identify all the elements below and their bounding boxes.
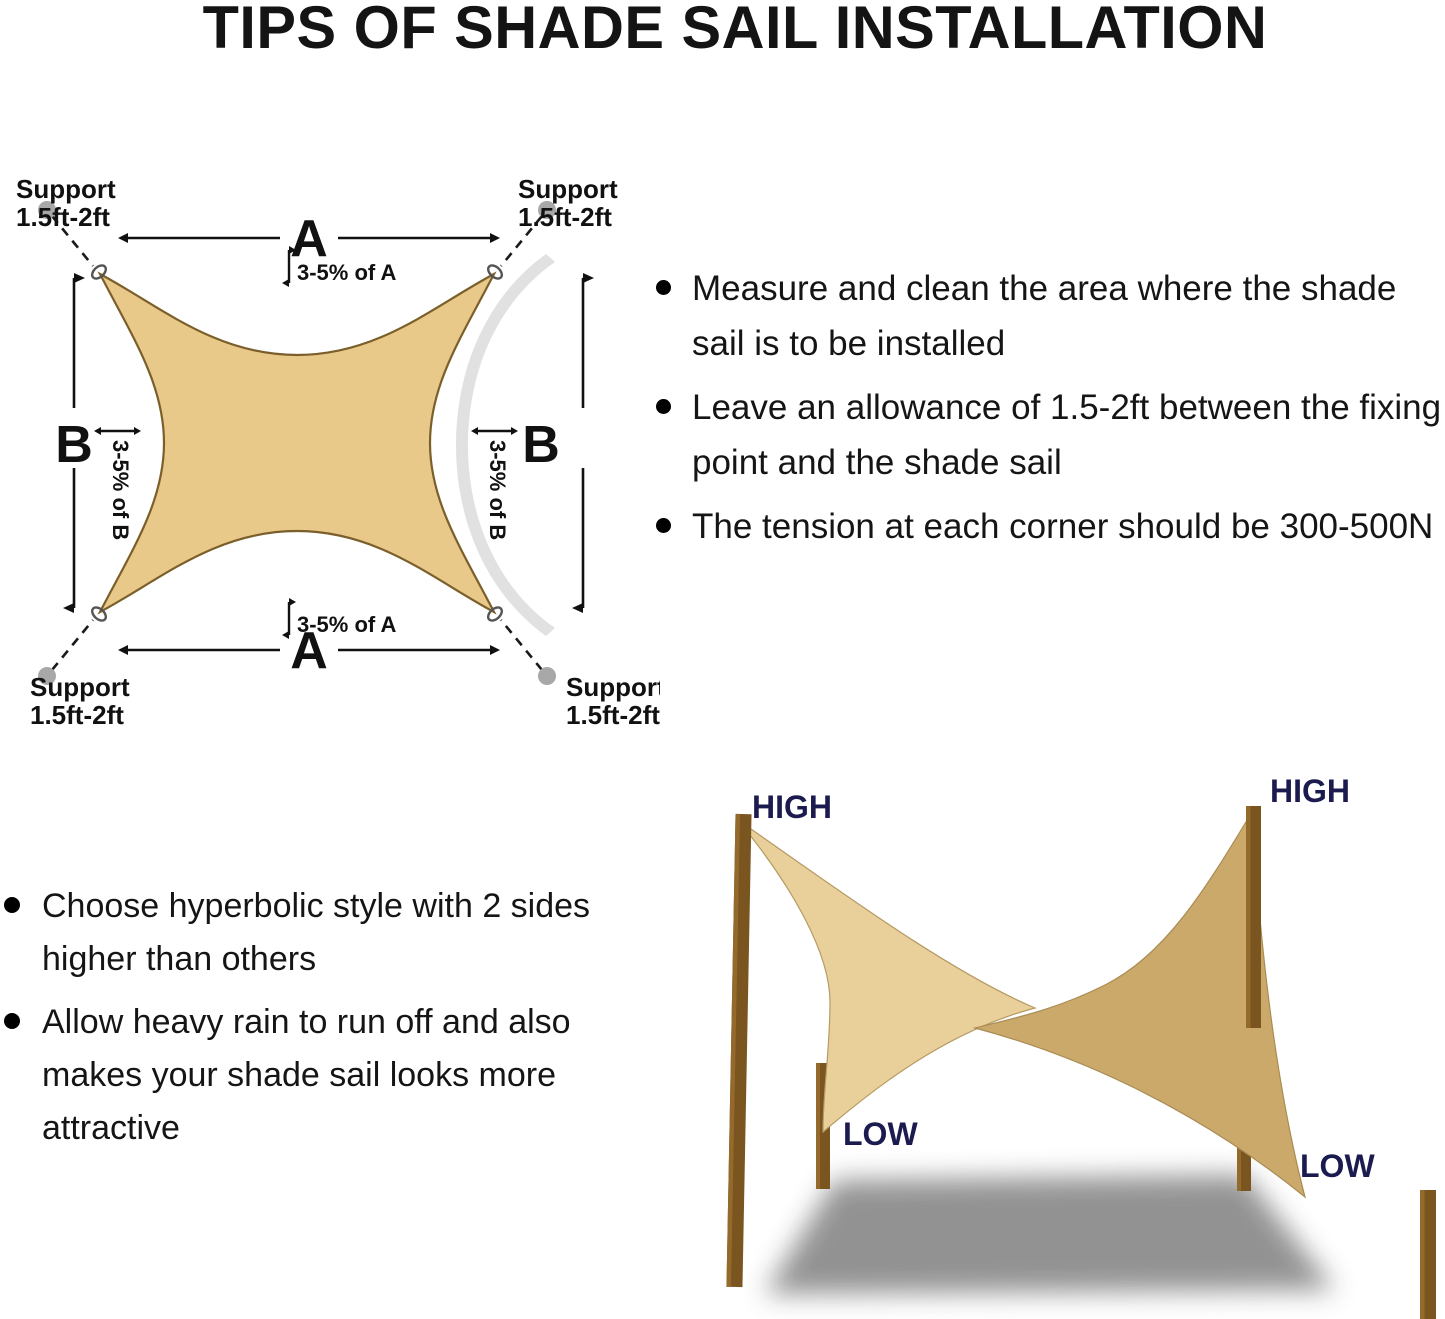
- support-label-br-1: Support: [566, 672, 660, 702]
- tip-text: Measure and clean the area where the sha…: [692, 269, 1396, 363]
- dim-label-b-right: B: [522, 416, 560, 474]
- support-label-tr-1: Support: [518, 174, 618, 204]
- label-low-left: LOW: [843, 1116, 918, 1152]
- support-dot-bottom-right: [538, 667, 556, 685]
- support-label-bl-1: Support: [30, 672, 130, 702]
- tip-text: The tension at each corner should be 300…: [692, 507, 1433, 546]
- bullet-dot-icon: [656, 280, 671, 295]
- style-note-text: Choose hyperbolic style with 2 sides hig…: [42, 887, 590, 978]
- list-item: The tension at each corner should be 300…: [648, 500, 1445, 555]
- dim-label-b-left: B: [55, 416, 93, 474]
- tip-text: Leave an allowance of 1.5-2ft between th…: [692, 388, 1441, 482]
- curve-label-b-left-text: 3-5% of B: [108, 440, 133, 540]
- label-high-left: HIGH: [752, 789, 832, 825]
- curve-label-a-top-text: 3-5% of A: [297, 260, 397, 285]
- curve-label-b-right-text: 3-5% of B: [485, 440, 510, 540]
- hyperbolic-style-notes: Choose hyperbolic style with 2 sides hig…: [0, 880, 640, 1210]
- curve-label-b-left: 3-5% of B: [101, 431, 134, 540]
- bullet-dot-icon: [656, 399, 671, 414]
- shade-sail-dimension-diagram: A 3-5% of A A 3-5% of A B: [0, 150, 660, 740]
- support-label-tl-2: 1.5ft-2ft: [16, 202, 110, 232]
- bullet-dot-icon: [656, 518, 671, 533]
- support-label-br-2: 1.5ft-2ft: [566, 700, 660, 730]
- support-label-tr-2: 1.5ft-2ft: [518, 202, 612, 232]
- curve-label-a-bottom: 3-5% of A: [289, 602, 397, 637]
- support-label-bl-2: 1.5ft-2ft: [30, 700, 124, 730]
- support-label-tl-1: Support: [16, 174, 116, 204]
- page-title: TIPS OF SHADE SAIL INSTALLATION: [106, 0, 1363, 59]
- bullet-dot-icon: [4, 1013, 20, 1029]
- style-bullet-list: Choose hyperbolic style with 2 sides hig…: [0, 880, 640, 1155]
- dimension-b-right: B: [522, 278, 583, 608]
- label-low-right: LOW: [1300, 1148, 1375, 1184]
- list-item: Allow heavy rain to run off and also mak…: [0, 996, 640, 1155]
- ground-shadow: [765, 1175, 1335, 1294]
- hyperbolic-sail-illustration: HIGH HIGH LOW LOW: [645, 770, 1445, 1319]
- hyperbolic-illustration-svg: HIGH HIGH LOW LOW: [645, 770, 1445, 1319]
- curve-label-b-right: 3-5% of B: [478, 431, 511, 540]
- installation-tips-list: Measure and clean the area where the sha…: [648, 262, 1445, 662]
- sail-shape: [100, 274, 494, 612]
- list-item: Leave an allowance of 1.5-2ft between th…: [648, 381, 1445, 490]
- bullet-dot-icon: [4, 897, 20, 913]
- curve-label-a-bottom-text: 3-5% of A: [297, 612, 397, 637]
- label-high-right: HIGH: [1270, 773, 1350, 809]
- style-note-text: Allow heavy rain to run off and also mak…: [42, 1003, 571, 1147]
- dimension-diagram-svg: A 3-5% of A A 3-5% of A B: [0, 150, 660, 740]
- infographic-page: TIPS OF SHADE SAIL INSTALLATION: [0, 0, 1445, 1319]
- list-item: Measure and clean the area where the sha…: [648, 262, 1445, 371]
- sail-panel-left: [738, 820, 1035, 1132]
- dimension-b-left: B: [55, 278, 93, 608]
- tips-bullet-list: Measure and clean the area where the sha…: [648, 262, 1445, 555]
- list-item: Choose hyperbolic style with 2 sides hig…: [0, 880, 640, 986]
